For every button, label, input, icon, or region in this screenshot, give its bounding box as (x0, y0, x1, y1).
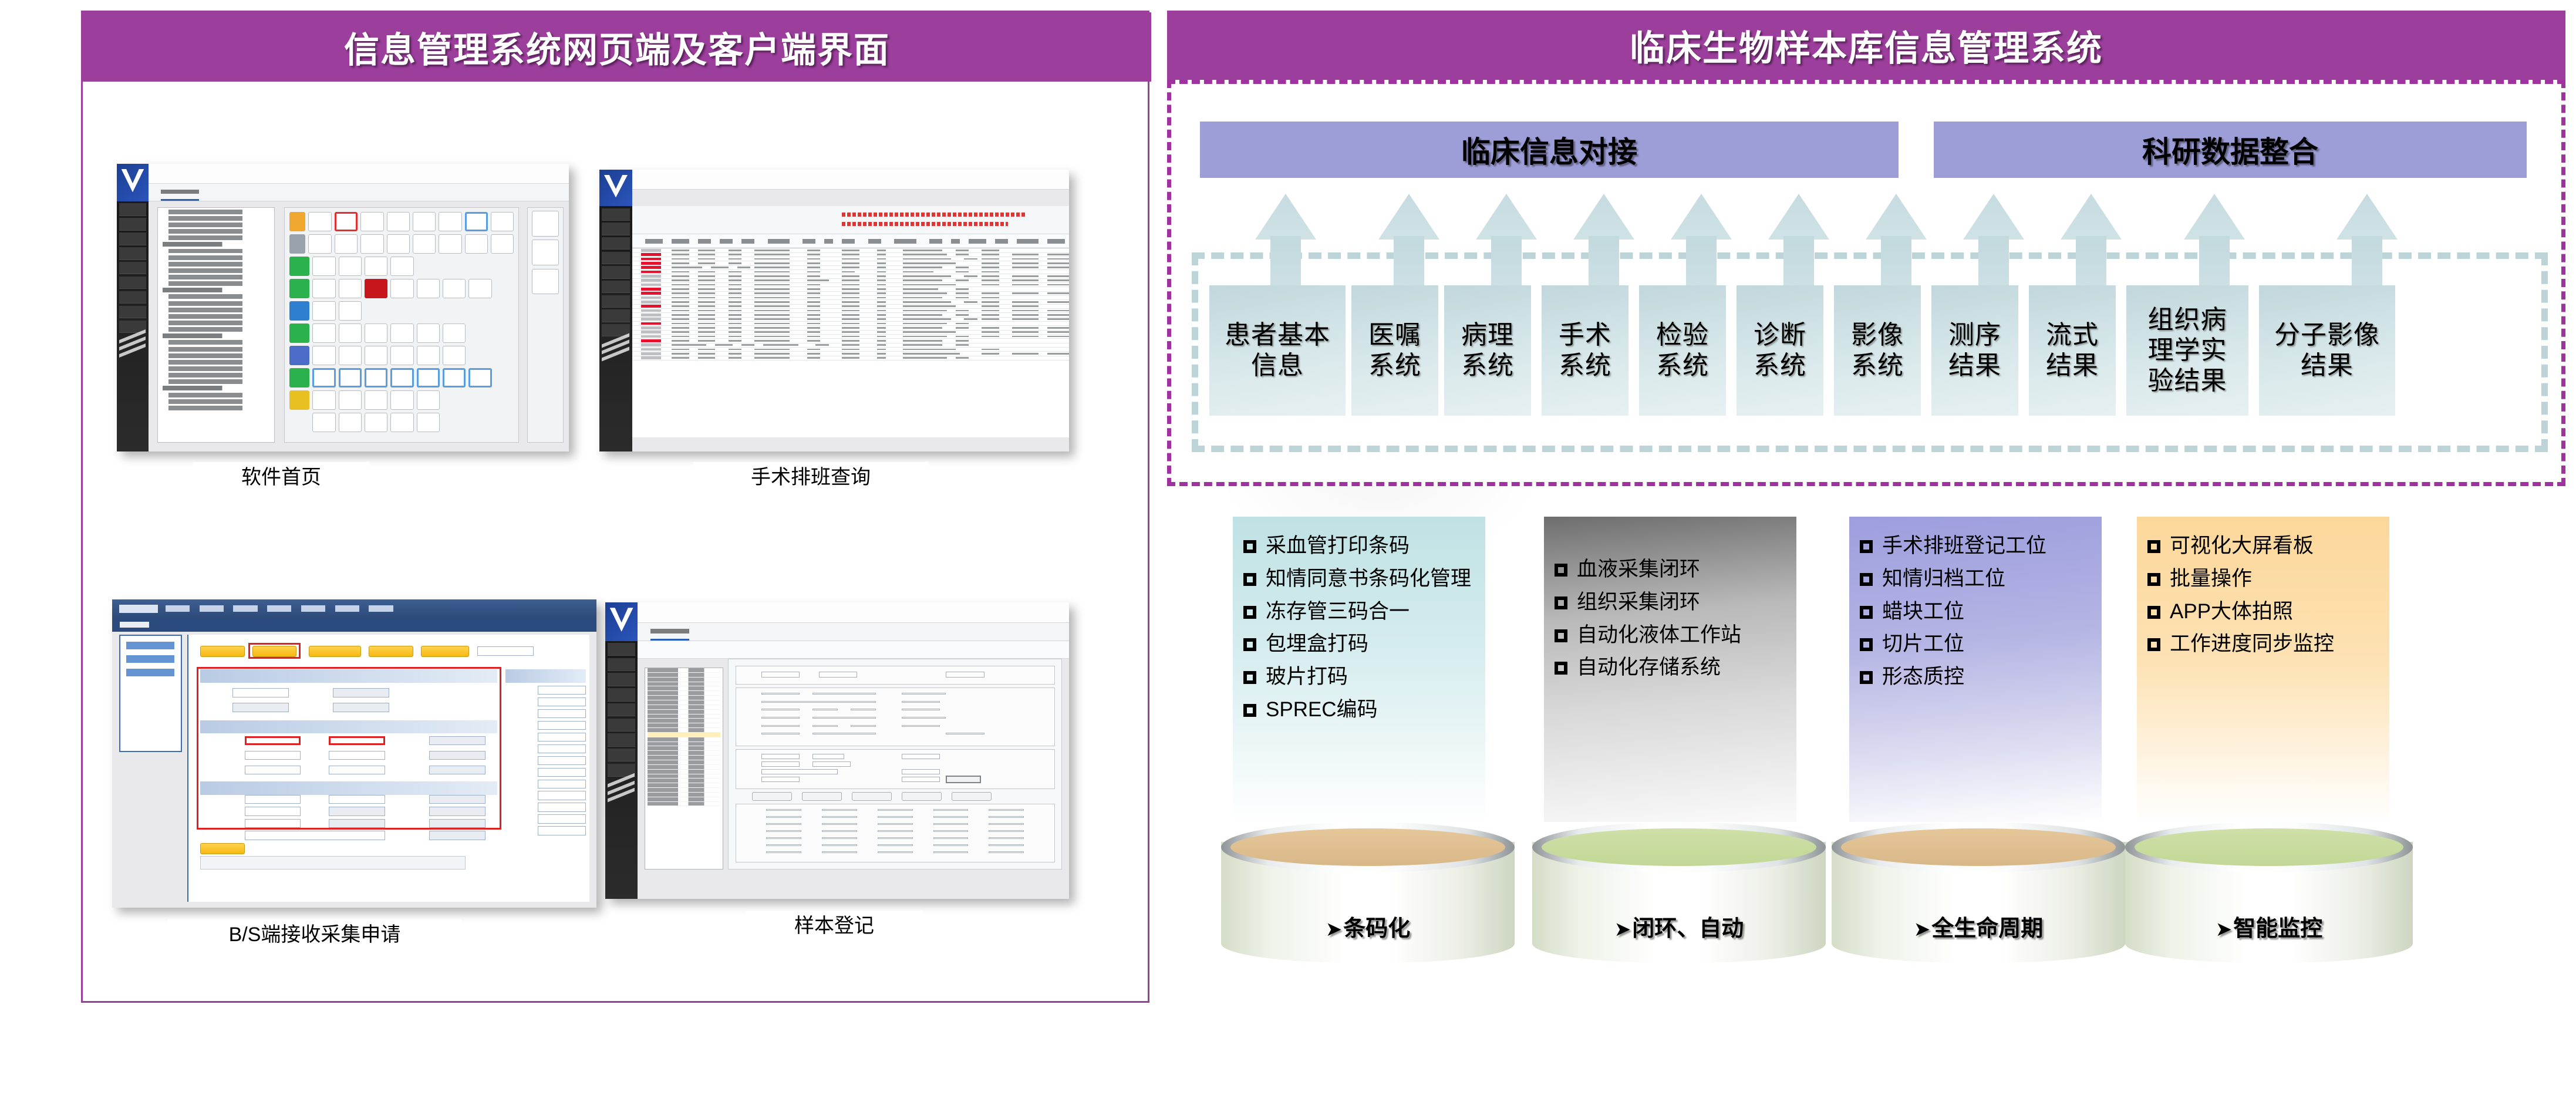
source-box-label: 测序 结果 (1948, 320, 2001, 381)
web-main-form[interactable] (187, 635, 590, 901)
feature-list: 手术排班登记工位 知情归档工位 蜡块工位 切片工位 形态质控 (1860, 531, 2091, 692)
patient-info-group (736, 688, 1055, 746)
outpatient-no-field[interactable] (902, 709, 940, 710)
open-sample-list[interactable] (645, 668, 723, 869)
records-table-header (200, 856, 465, 870)
sample-toolbar[interactable] (638, 641, 1069, 659)
checkbox-icon (1555, 629, 1567, 642)
source-box-label: 诊断 系统 (1754, 320, 1806, 381)
material-section-header (200, 781, 497, 795)
list-item: 可视化大屏看板 (2147, 531, 2379, 561)
screenshot-bs-intake[interactable]: B/S端接收采集申请 (112, 599, 596, 908)
checkbox-icon (1243, 573, 1256, 586)
checkbox-icon (1243, 671, 1256, 684)
disease-type-select[interactable] (245, 766, 301, 774)
source-box-label: 医嘱 系统 (1368, 320, 1421, 381)
warning-text-2 (842, 222, 1008, 227)
app-title-bar (599, 170, 1069, 190)
custom-field[interactable] (538, 768, 586, 777)
phone-field[interactable] (812, 717, 876, 719)
department-field[interactable] (232, 703, 289, 712)
research-data-integration-box[interactable]: 科研数据整合 (1934, 122, 2527, 178)
save-and-new-button[interactable] (309, 646, 361, 657)
print-button[interactable] (421, 646, 469, 657)
table-header-row (632, 234, 1069, 248)
feature-card-lifecycle[interactable]: 手术排班登记工位 知情归档工位 蜡块工位 切片工位 形态质控 (1849, 517, 2102, 822)
sample-class-select[interactable] (245, 795, 301, 804)
gender-select[interactable] (812, 709, 838, 710)
checkbox-icon (1860, 606, 1873, 619)
research-data-integration-label: 科研数据整合 (2142, 129, 2318, 171)
clinical-info-docking-box[interactable]: 临床信息对接 (1200, 122, 1899, 178)
source-box-label: 患者基本 信息 (1225, 320, 1330, 381)
arrow-bullet-icon: ➤ (2216, 918, 2233, 941)
tube-no-field[interactable] (329, 807, 385, 815)
app-side-nav[interactable] (605, 641, 638, 899)
new-button[interactable] (200, 646, 244, 657)
custom-field[interactable] (538, 721, 586, 730)
sample-type-select[interactable] (761, 672, 800, 678)
right-action-panel[interactable] (527, 207, 564, 443)
age-field[interactable] (851, 709, 876, 710)
custom-field[interactable] (538, 733, 586, 742)
nationality-select[interactable] (761, 725, 800, 727)
screenshot-caption-1: 软件首页 (193, 462, 369, 493)
screenshot-image-3 (112, 599, 596, 908)
outpatient-no-field[interactable] (329, 736, 385, 745)
patient-code-field[interactable] (761, 701, 876, 703)
reprint-label-button[interactable] (952, 792, 992, 800)
list-item: 蜡块工位 (1860, 597, 2091, 627)
checkbox-icon (1243, 638, 1256, 651)
cylinder-top-surface (2135, 828, 2403, 866)
sample-group (736, 666, 1055, 685)
menu-tree-panel[interactable] (157, 207, 275, 443)
slide-canvas: 信息管理系统网页端及客户端界面 (0, 0, 2576, 1102)
cylinder-closedloop: ➤闭环、自动 (1532, 822, 1826, 963)
source-box-label: 流式 结果 (2046, 320, 2099, 381)
sample-room-select[interactable] (329, 766, 385, 774)
cylinder-top-surface (1841, 828, 2116, 866)
checkbox-icon (2147, 540, 2160, 553)
clinical-info-docking-label: 临床信息对接 (1461, 129, 1637, 171)
web-page-heading (112, 618, 596, 632)
cylinder-lifecycle: ➤全生命周期 (1832, 822, 2125, 963)
template-select[interactable] (477, 646, 534, 655)
today-records-button[interactable] (200, 843, 244, 854)
app-tab-strip[interactable] (149, 184, 569, 201)
sample-owner-select[interactable] (946, 733, 984, 734)
add-attachment-button[interactable] (902, 792, 942, 800)
list-item: 组织采集闭环 (1555, 587, 1786, 618)
custom-fields-group (736, 804, 1055, 862)
print-label-button[interactable] (752, 792, 792, 800)
checkbox-icon (1860, 638, 1873, 651)
id-card-field[interactable] (902, 717, 946, 719)
marriage-select[interactable] (851, 725, 876, 727)
web-top-nav[interactable] (112, 599, 596, 618)
sample-no-field[interactable] (819, 672, 857, 678)
sample-owner-field[interactable] (329, 819, 385, 828)
source-box-surgery-system[interactable]: 手术 系统 (1542, 285, 1628, 416)
surgery-name-field[interactable] (761, 769, 838, 774)
sample-remark-select[interactable] (761, 777, 800, 782)
left-panel-header: 信息管理系统网页端及客户端界面 (83, 12, 1151, 82)
screenshot-image-2 (599, 170, 1069, 451)
feature-list: 可视化大屏看板 批量操作 APP大体拍照 工作进度同步监控 (2147, 531, 2379, 659)
collect-date-field[interactable] (761, 754, 800, 759)
screenshot-caption-2: 手术排班查询 (693, 462, 928, 493)
cylinder-label-barcode: ➤条码化 (1221, 910, 1515, 942)
arrow-bullet-icon: ➤ (1326, 918, 1343, 941)
list-item: 形态质控 (1860, 662, 2091, 692)
feature-column-barcode: ➤条码化 采血管打印条码 知情同意书条码化管理 冻存管三码合一 包埋盒打码 玻片… (1233, 517, 1503, 986)
sender-field[interactable] (429, 819, 485, 828)
screenshot-sample-registration[interactable]: 样本登记 (605, 602, 1069, 899)
project-name-field[interactable] (232, 688, 289, 697)
sample-header-bar[interactable] (638, 623, 1069, 641)
save-button-highlight (248, 643, 301, 659)
left-panel: 信息管理系统网页端及客户端界面 (81, 11, 1149, 1003)
list-item: 批量操作 (2147, 564, 2379, 594)
cylinder-top-surface (1230, 828, 1505, 866)
patient-name-field[interactable] (761, 709, 800, 710)
function-button-grid[interactable] (284, 207, 519, 443)
app-title-bar (605, 602, 1069, 623)
feature-column-closedloop: ➤闭环、自动 血液采集闭环 组织采集闭环 自动化液体工作站 自动化存储系统 (1544, 517, 1814, 986)
list-item: 玻片打码 (1243, 662, 1475, 692)
source-box-label: 组织病 理学实 验结果 (2148, 305, 2227, 396)
bed-no-field[interactable] (902, 725, 940, 727)
custom-field[interactable] (538, 826, 586, 835)
custom-field[interactable] (538, 814, 586, 823)
checkbox-icon (1243, 606, 1256, 619)
remark-field[interactable] (429, 831, 485, 840)
custom-field[interactable] (538, 803, 586, 811)
source-box-label: 手术 系统 (1559, 320, 1611, 381)
cylinder-label-closedloop: ➤闭环、自动 (1532, 910, 1826, 942)
handling-method-field[interactable] (429, 807, 485, 815)
app-side-nav[interactable] (117, 201, 149, 451)
checkbox-icon (1243, 540, 1256, 553)
source-box-label: 病理 系统 (1461, 320, 1514, 381)
save-and-new-button[interactable] (802, 792, 842, 800)
app-logo-icon (599, 170, 632, 206)
custom-field[interactable] (538, 697, 586, 706)
web-left-nav[interactable] (119, 635, 182, 752)
id-card-field[interactable] (429, 751, 485, 760)
applicant-field[interactable] (245, 819, 301, 828)
source-box-flow-cytometry-result[interactable]: 流式 结果 (2029, 285, 2116, 416)
screenshot-caption-3: B/S端接收采集申请 (168, 919, 461, 951)
app-logo-icon (605, 602, 638, 641)
custom-field[interactable] (538, 686, 586, 695)
patient-section-header (200, 720, 497, 734)
list-item: SPREC编码 (1243, 695, 1475, 725)
patient-name-field[interactable] (245, 751, 301, 760)
screenshot-software-home[interactable]: 软件首页 (117, 164, 569, 451)
source-dept-select[interactable] (761, 733, 800, 734)
screenshot-image-4 (605, 602, 1069, 899)
cylinder-label-lifecycle: ➤全生命周期 (1832, 910, 2125, 942)
address-field[interactable] (761, 717, 800, 719)
query-by-select[interactable] (812, 693, 876, 695)
source-box-label: 影像 系统 (1851, 320, 1904, 381)
leave-body-time-field[interactable] (812, 761, 851, 767)
patient-id-field[interactable] (429, 736, 485, 745)
cylinder-label-monitoring: ➤智能监控 (2125, 910, 2413, 942)
custom-field[interactable] (538, 780, 586, 788)
freeze-time-field[interactable] (902, 754, 940, 759)
screenshot-surgery-schedule[interactable]: 手术排班查询 (599, 170, 1069, 451)
checkbox-icon (1555, 662, 1567, 675)
list-item: APP大体拍照 (2147, 597, 2379, 627)
inpatient-no-field[interactable] (245, 736, 301, 745)
custom-field-grid[interactable] (748, 808, 1041, 858)
custom-field[interactable] (538, 791, 586, 800)
source-box-label: 检验 系统 (1656, 320, 1709, 381)
cylinder-top-surface (1542, 828, 1816, 866)
gender-select[interactable] (329, 751, 385, 760)
table-toolbar[interactable] (632, 206, 1069, 234)
inpatient-no-field[interactable] (902, 701, 940, 703)
right-panel-title: 临床生物样本库信息管理系统 (1167, 11, 2565, 80)
his-code-field[interactable] (761, 693, 800, 695)
left-panel-title: 信息管理系统网页端及客户端界面 (83, 12, 1151, 82)
source-box-molecular-imaging-result[interactable]: 分子影像 结果 (2259, 285, 2395, 416)
app-side-nav[interactable] (599, 206, 632, 451)
project-owner-field[interactable] (333, 703, 389, 712)
warning-text-1 (842, 213, 1025, 217)
checkbox-icon (1860, 573, 1873, 586)
project-code-field[interactable] (333, 688, 389, 697)
right-panel-header: 临床生物样本库信息管理系统 (1167, 11, 2565, 80)
app-logo-icon (117, 164, 149, 201)
list-item: 知情归档工位 (1860, 564, 2091, 594)
feature-list: 血液采集闭环 组织采集闭环 自动化液体工作站 自动化存储系统 (1555, 554, 1786, 683)
collect-process-select[interactable] (902, 769, 940, 774)
quality-select[interactable] (946, 672, 984, 678)
custom-field[interactable] (538, 756, 586, 765)
feature-column-monitoring: ➤智能监控 可视化大屏看板 批量操作 APP大体拍照 工作进度同步监控 (2137, 517, 2407, 986)
source-box-label: 分子影像 结果 (2274, 320, 2380, 381)
web-brand-logo (119, 605, 158, 613)
source-box-sequencing-result[interactable]: 测序 结果 (1931, 285, 2018, 416)
screenshot-caption-4: 样本登记 (746, 911, 922, 942)
list-item: 知情同意书条码化管理 (1243, 564, 1475, 594)
custom-field[interactable] (538, 709, 586, 718)
source-box-lab-system[interactable]: 检验 系统 (1639, 285, 1726, 416)
custom-fields-header (505, 669, 586, 683)
material-info-group (736, 749, 1055, 789)
source-box-diagnosis-system[interactable]: 诊断 系统 (1737, 285, 1823, 416)
list-item: 工作进度同步监控 (2147, 629, 2379, 659)
sample-detail-form[interactable] (728, 659, 1062, 870)
save-f2-button[interactable] (946, 776, 981, 783)
fetch-lis-button[interactable] (852, 792, 892, 800)
collect-time-field[interactable] (761, 761, 800, 767)
arrow-bullet-icon: ➤ (1914, 918, 1931, 941)
feature-column-lifecycle: ➤全生命周期 手术排班登记工位 知情归档工位 蜡块工位 切片工位 形态质控 (1849, 517, 2119, 986)
ward-select[interactable] (429, 766, 485, 774)
source-box-pathology-system[interactable]: 病理 系统 (1444, 285, 1531, 416)
checkbox-icon (2147, 606, 2160, 619)
table-body[interactable] (632, 248, 1069, 437)
list-item: 自动化液体工作站 (1555, 620, 1786, 651)
consent-select[interactable] (812, 754, 844, 759)
list-item: 采血管打印条码 (1243, 531, 1475, 561)
feature-card-monitoring[interactable]: 可视化大屏看板 批量操作 APP大体拍照 工作进度同步监控 (2137, 517, 2389, 822)
list-item: 手术排班登记工位 (1860, 531, 2091, 561)
storage-select[interactable] (902, 777, 940, 782)
custom-field[interactable] (538, 744, 586, 753)
list-item: 冻存管三码合一 (1243, 597, 1475, 627)
notes-field[interactable] (245, 831, 385, 840)
app-title-bar (117, 164, 569, 184)
checkbox-icon (1555, 564, 1567, 577)
feature-card-barcode[interactable]: 采血管打印条码 知情同意书条码化管理 冻存管三码合一 包埋盒打码 玻片打码 SP… (1233, 517, 1485, 822)
source-box-order-system[interactable]: 医嘱 系统 (1351, 285, 1438, 416)
checkbox-icon (1243, 704, 1256, 717)
occupation-select[interactable] (812, 725, 838, 727)
cylinder-monitoring: ➤智能监控 (2125, 822, 2413, 963)
list-item: 切片工位 (1860, 629, 2091, 659)
checkbox-icon (2147, 573, 2160, 586)
collect-time-field[interactable] (245, 807, 301, 815)
arrow-bullet-icon: ➤ (1614, 918, 1631, 941)
sample-state-select[interactable] (429, 795, 485, 804)
source-box-histopathology-result[interactable]: 组织病 理学实 验结果 (2126, 285, 2248, 416)
feature-list: 采血管打印条码 知情同意书条码化管理 冻存管三码合一 包埋盒打码 玻片打码 SP… (1243, 531, 1475, 725)
list-item: 包埋盒打码 (1243, 629, 1475, 659)
list-item: 自动化存储系统 (1555, 652, 1786, 683)
discipline-select[interactable] (902, 693, 946, 695)
checkbox-icon (1860, 671, 1873, 684)
delete-button[interactable] (369, 646, 413, 657)
checkbox-icon (1860, 540, 1873, 553)
source-box-patient-basic-info[interactable]: 患者基本 信息 (1209, 285, 1346, 416)
checkbox-icon (1555, 597, 1567, 609)
project-section-header (200, 669, 497, 683)
list-item: 血液采集闭环 (1555, 554, 1786, 585)
source-box-imaging-system[interactable]: 影像 系统 (1834, 285, 1921, 416)
feature-card-closedloop[interactable]: 血液采集闭环 组织采集闭环 自动化液体工作站 自动化存储系统 (1544, 517, 1796, 822)
sample-type-select[interactable] (329, 795, 385, 804)
checkbox-icon (2147, 638, 2160, 651)
screenshot-image-1 (117, 164, 569, 451)
clinical-diagnosis-select[interactable] (812, 733, 876, 734)
cylinder-barcode: ➤条码化 (1221, 822, 1515, 963)
